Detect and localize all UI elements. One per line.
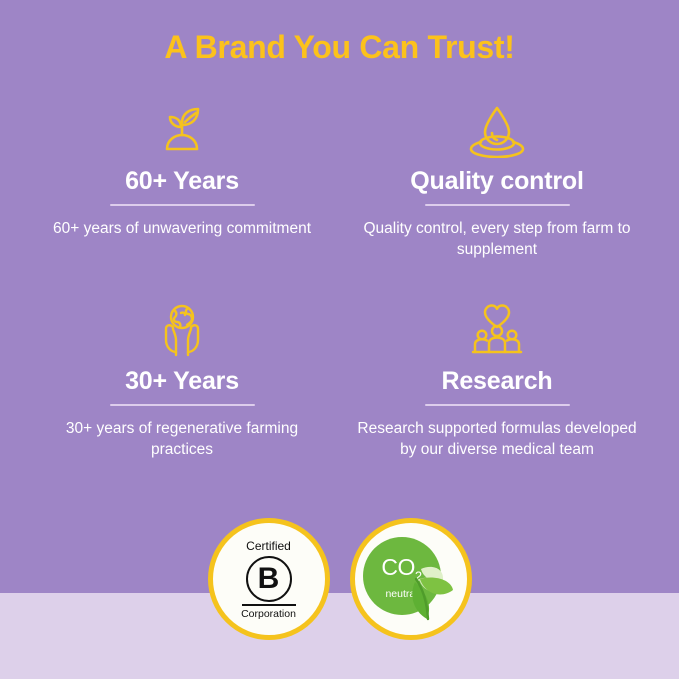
feature-divider (110, 404, 255, 406)
feature-card-research: Research Research supported formulas dev… (337, 300, 657, 460)
feature-grid: 60+ Years 60+ years of unwavering commit… (0, 100, 679, 500)
bcorp-certified-label: Certified (213, 540, 325, 553)
co2-leaves-icon (399, 549, 463, 623)
feature-heading: Research (337, 366, 657, 396)
bcorp-corporation-label: Corporation (213, 608, 325, 620)
feature-heading: 60+ Years (22, 166, 342, 196)
feature-divider (110, 204, 255, 206)
feature-body: 60+ years of unwavering commitment (22, 218, 342, 239)
poster-canvas: A Brand You Can Trust! 60+ Years (0, 0, 679, 679)
feature-divider (425, 404, 570, 406)
feature-body: Quality control, every step from farm to… (337, 218, 657, 260)
people-heart-icon (337, 300, 657, 360)
hands-holding-globe-icon (22, 300, 342, 360)
sprout-icon (22, 100, 342, 160)
page-title: A Brand You Can Trust! (0, 27, 679, 67)
feature-card-30-years: 30+ Years 30+ years of regenerative farm… (22, 300, 342, 460)
bcorp-b-mark: B (246, 556, 292, 602)
feature-card-60-years: 60+ Years 60+ years of unwavering commit… (22, 100, 342, 239)
feature-body: 30+ years of regenerative farming practi… (22, 418, 342, 460)
feature-card-quality-control: Quality control Quality control, every s… (337, 100, 657, 260)
bcorp-b-letter: B (258, 564, 280, 594)
feature-heading: 30+ Years (22, 366, 342, 396)
feature-divider (425, 204, 570, 206)
feature-heading: Quality control (337, 166, 657, 196)
bcorp-rule (242, 604, 296, 607)
water-droplet-icon (337, 100, 657, 160)
co2-neutral-badge: CO2 neutral (350, 518, 472, 640)
certification-badges: Certified B Corporation CO2 neutral (0, 518, 679, 648)
b-corp-certified-badge: Certified B Corporation (208, 518, 330, 640)
feature-body: Research supported formulas developed by… (337, 418, 657, 460)
